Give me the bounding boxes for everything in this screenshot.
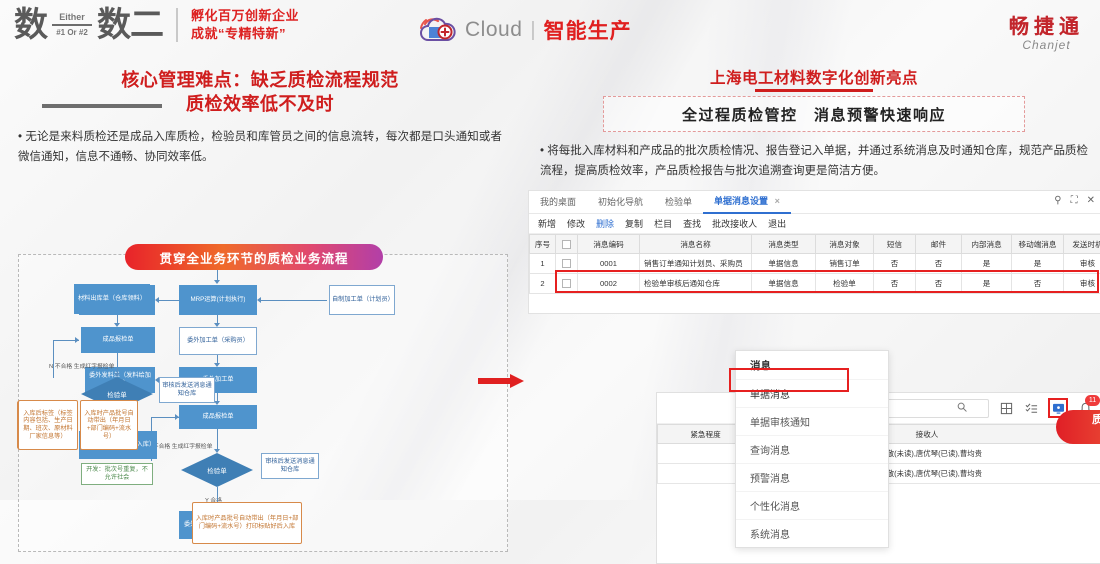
flow-decision-inspection-right: 检验单 (181, 453, 253, 487)
cell-name: 销售订单通知计划员、采购员 (640, 254, 752, 274)
menu-item-personalized-message[interactable]: 个性化消息 (736, 491, 888, 519)
task-list-icon[interactable] (1023, 400, 1039, 416)
toolbar-columns[interactable]: 栏目 (654, 217, 672, 230)
cell-sms: 否 (874, 254, 916, 274)
right-title-text: 上海电工材料数字化创新亮点 (528, 66, 1100, 88)
flow-node-material-out: 材料出库单（仓库领料） (74, 284, 150, 314)
cell-index: 2 (530, 274, 556, 294)
cell-sms: 否 (874, 274, 916, 294)
right-body-content: 将每批入库材料和产成品的批次质检情况、报告登记入单据，并通过系统消息及时通知仓库… (540, 145, 1088, 177)
flow-label-fail-left: N 不合格 生成红字报检单 (49, 361, 114, 370)
left-title: 核心管理难点：缺乏质检流程规范 质检效率低不及时 (0, 68, 520, 117)
col-message-object: 消息对象 (816, 235, 874, 254)
product-logo-center: Cloud | 智能生产 (415, 14, 632, 46)
flow-line-10 (217, 429, 218, 451)
table-row[interactable]: 1 0001 销售订单通知计划员、采购员 单据信息 销售订单 否 否 是 是 审… (530, 254, 1100, 274)
logo-char-shu: 数 (14, 8, 47, 42)
menu-item-alert-message[interactable]: 预警消息 (736, 463, 888, 491)
col-send-timing: 发送时机 (1064, 235, 1100, 254)
flow-arrow-12 (75, 337, 79, 343)
table-header-row: 序号 消息编码 消息名称 消息类型 消息对象 短信 邮件 内部消息 移动端消息 … (530, 235, 1100, 254)
cell-mobile: 否 (1012, 274, 1064, 294)
cell-checkbox[interactable] (556, 254, 578, 274)
toolbar-add[interactable]: 新增 (538, 217, 556, 230)
slogan-line-1: 孵化百万创新企业 (191, 7, 299, 25)
tab-message-settings-label: 单据消息设置 (714, 196, 768, 206)
message-dropdown-menu: 消息 单据消息 单据审核通知 查询消息 预警消息 个性化消息 系统消息 (735, 350, 889, 548)
cell-name: 检验单审核后通知仓库 (640, 274, 752, 294)
menu-item-query-message[interactable]: 查询消息 (736, 435, 888, 463)
callout-line-1: 质检消息通知 (1092, 413, 1100, 427)
flow-note-send-left: 审核后发送消息通知仓库 (159, 377, 215, 403)
flow-arrow-9 (214, 449, 220, 453)
left-title-line-1: 核心管理难点：缺乏质检流程规范 (0, 68, 520, 92)
cell-inner: 是 (962, 274, 1012, 294)
toolbar-batch-receivers[interactable]: 批改接收人 (712, 217, 757, 230)
logo-char-shuer: 数二 (97, 8, 163, 42)
left-column: 核心管理难点：缺乏质检流程规范 质检效率低不及时 • 无论是来料质检还是成品入库… (0, 62, 520, 500)
select-all-checkbox[interactable] (562, 240, 571, 249)
flow-note-batch-number: 入库时产品批号自动带出（年月日+部门编码+流水号） (80, 400, 138, 450)
col-message-type: 消息类型 (752, 235, 816, 254)
search-icon[interactable]: ⚲ (1054, 195, 1061, 206)
menu-header: 消息 (736, 351, 888, 379)
toolbar-edit[interactable]: 修改 (567, 217, 585, 230)
center-logo-suffix: 智能生产 (544, 15, 632, 45)
flow-line-2 (259, 300, 327, 301)
right-highlight-box: 全过程质检管控 消息预警快速响应 (603, 96, 1025, 132)
menu-item-system-message[interactable]: 系统消息 (736, 519, 888, 547)
close-icon[interactable]: ✕ (1087, 195, 1095, 206)
right-title: 上海电工材料数字化创新亮点 (528, 66, 1100, 92)
toolbar-find[interactable]: 查找 (683, 217, 701, 230)
flow-arrow-2 (257, 297, 261, 303)
left-title-underline (42, 104, 162, 108)
cell-type: 单据信息 (752, 254, 816, 274)
menu-item-document-message[interactable]: 单据消息 (736, 379, 888, 407)
toolbar-delete[interactable]: 删除 (596, 217, 614, 230)
cell-inner: 是 (962, 254, 1012, 274)
col-message-code: 消息编码 (578, 235, 640, 254)
menu-item-document-approval-notice[interactable]: 单据审核通知 (736, 407, 888, 435)
flow-node-report-left: 成品报检单 (81, 327, 155, 353)
cloud-label: Cloud (465, 18, 522, 42)
search-icon[interactable] (957, 399, 967, 417)
cell-mail: 否 (916, 254, 962, 274)
right-highlight-text: 全过程质检管控 消息预警快速响应 (682, 104, 946, 125)
cell-timing: 审核 (1064, 254, 1100, 274)
table-row[interactable]: 2 0002 检验单审核后通知仓库 单据信息 检验单 否 否 是 否 审核 (530, 274, 1100, 294)
col-mobile-message: 移动端消息 (1012, 235, 1064, 254)
cell-type: 单据信息 (752, 274, 816, 294)
logo-either-bottom: #1 Or #2 (56, 28, 88, 37)
t-plus-cloud-icon (415, 14, 461, 46)
toolbar-copy[interactable]: 复制 (625, 217, 643, 230)
maximize-icon[interactable]: ⛶ (1071, 195, 1078, 206)
flow-arrow-1 (214, 280, 220, 284)
col-message-name: 消息名称 (640, 235, 752, 254)
flow-line-15 (117, 353, 118, 375)
col-inner-message: 内部消息 (962, 235, 1012, 254)
flow-arrow-8 (175, 414, 179, 420)
cell-code: 0002 (578, 274, 640, 294)
brand-logo-right: 畅捷通 Chanjet (1009, 10, 1084, 52)
left-title-line-2-text: 质检效率低不及时 (186, 94, 334, 114)
flow-node-outsource-po: 委外加工单（采购员） (179, 327, 257, 355)
erp-tab-bar: 我的桌面 初始化导航 检验单 单据消息设置 × ⚲ ⛶ ✕ (529, 191, 1100, 214)
tab-close-icon[interactable]: × (775, 196, 780, 206)
flow-arrow-3 (155, 297, 159, 303)
slogan-line-2: 成就“专精特新” (191, 25, 299, 43)
callout-line-2: 预警 (1092, 427, 1100, 441)
col-mail: 邮件 (916, 235, 962, 254)
brand-slogan: 孵化百万创新企业 成就“专精特新” (191, 7, 299, 42)
row-checkbox[interactable] (562, 259, 571, 268)
tab-my-desktop[interactable]: 我的桌面 (529, 191, 587, 213)
erp-window: 我的桌面 初始化导航 检验单 单据消息设置 × ⚲ ⛶ ✕ 新增 修改 删除 复… (528, 190, 1100, 314)
flow-node-mrp: MRP运算(计划执行) (179, 285, 257, 315)
flow-arrow-13 (114, 373, 120, 377)
flow-node-self-made-order: 自制加工单（计划员） (329, 285, 395, 315)
cell-index: 1 (530, 254, 556, 274)
toolbar-exit[interactable]: 退出 (768, 217, 786, 230)
flow-line-3 (157, 300, 179, 301)
erp-toolbar: 新增 修改 删除 复制 栏目 查找 批改接收人 退出 (529, 214, 1100, 234)
col-select[interactable] (556, 235, 578, 254)
cell-object: 检验单 (816, 274, 874, 294)
row-checkbox[interactable] (562, 279, 571, 288)
right-body-text: • 将每批入库材料和产成品的批次质检情况、报告登记入单据，并通过系统消息及时通知… (540, 141, 1088, 181)
tab-init-nav[interactable]: 初始化导航 (587, 191, 654, 213)
cell-mobile: 是 (1012, 254, 1064, 274)
logo-either-top: Either (59, 12, 85, 22)
cell-timing: 审核 (1064, 274, 1100, 294)
callout-arrow-icon (478, 374, 524, 388)
page-header: 数 Either #1 Or #2 数二 孵化百万创新企业 成就“专精特新” C… (0, 0, 1100, 60)
save-icon[interactable] (998, 400, 1014, 416)
right-title-underline (755, 89, 873, 92)
cell-object: 销售订单 (816, 254, 874, 274)
flow-arrow-11 (114, 323, 120, 327)
flow-note-dev: 开发：批次号重复，不允许社会 (81, 463, 153, 485)
left-title-line-2: 质检效率低不及时 (0, 92, 520, 116)
cell-mail: 否 (916, 274, 962, 294)
col-index: 序号 (530, 235, 556, 254)
tab-message-settings[interactable]: 单据消息设置 × (703, 190, 791, 214)
flow-arrow-4 (214, 323, 220, 327)
left-body-content: 无论是来料质检还是成品入库质检，检验员和库管员之间的信息流转，每次都是口头通知或… (18, 131, 502, 163)
notification-badge: 11 (1085, 395, 1100, 406)
chanjet-cn-label: 畅捷通 (1009, 10, 1084, 39)
flow-note-inbound-label: 入库后标签（标签内容包括、生产日期、班次、原材料厂家信息等） (18, 400, 78, 450)
message-settings-table: 序号 消息编码 消息名称 消息类型 消息对象 短信 邮件 内部消息 移动端消息 … (529, 234, 1100, 294)
flow-arrow-5 (214, 363, 220, 367)
cell-checkbox[interactable] (556, 274, 578, 294)
flow-node-report-right: 成品报检单 (179, 405, 257, 429)
header-vertical-divider (176, 8, 178, 42)
cell-code: 0001 (578, 254, 640, 274)
brand-logo-left: 数 Either #1 Or #2 数二 孵化百万创新企业 成就“专精特新” (14, 7, 299, 42)
logo-divider-bar (52, 24, 92, 26)
tab-inspection-order[interactable]: 检验单 (654, 191, 703, 213)
center-logo-divider: | (530, 19, 535, 42)
flow-note-send-right: 审核后发送消息通知仓库 (261, 453, 319, 479)
flow-ribbon-banner: 贯穿全业务环节的质检业务流程 (125, 244, 383, 270)
erp-window-controls: ⚲ ⛶ ✕ (1054, 195, 1095, 206)
quality-alert-callout: 质检消息通知 预警 (1056, 410, 1100, 444)
chanjet-en-label: Chanjet (1009, 38, 1084, 52)
left-body-text: • 无论是来料质检还是成品入库质检，检验员和库管员之间的信息流转，每次都是口头通… (18, 127, 502, 167)
flow-line-13 (53, 340, 54, 378)
logo-either-block: Either #1 Or #2 (52, 12, 92, 37)
flow-note-batch-print: 入库时产品批号自动带出（年月日+部门编码+流水号）打印标贴好后入库 (192, 502, 302, 544)
col-sms: 短信 (874, 235, 916, 254)
